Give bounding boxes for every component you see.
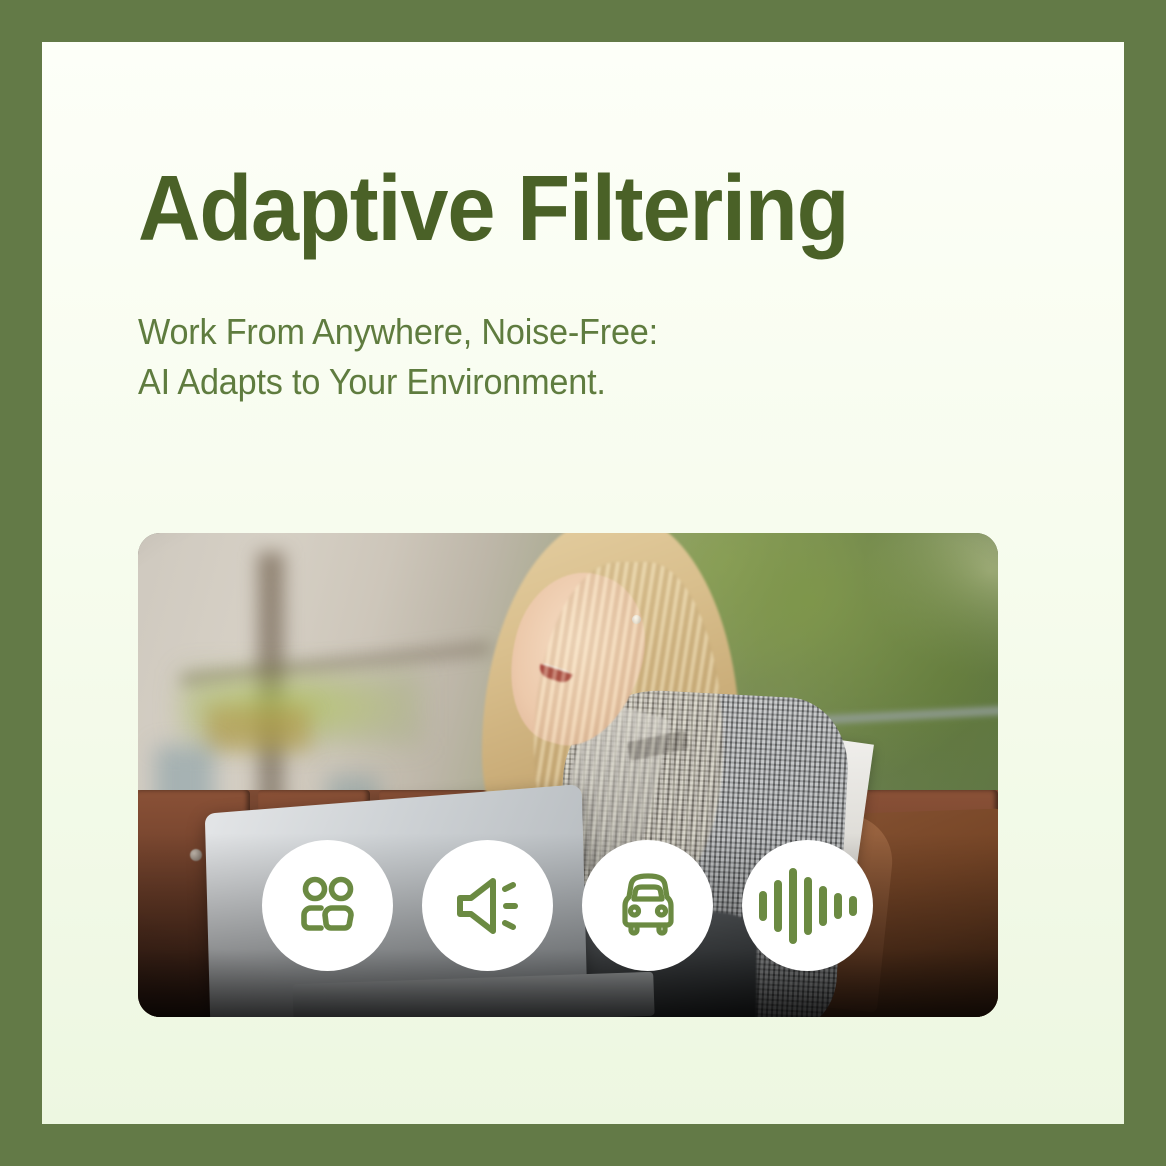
heading-block: Adaptive Filtering Work From Anywhere, N… [138, 162, 1018, 407]
page-title: Adaptive Filtering [138, 162, 956, 255]
speaker-icon-badge[interactable] [422, 840, 553, 971]
people-icon [291, 869, 365, 943]
subtitle-line-2: AI Adapts to Your Environment. [138, 357, 974, 407]
car-icon [610, 868, 686, 944]
subtitle-line-1: Work From Anywhere, Noise-Free: [138, 307, 974, 357]
content-panel: Adaptive Filtering Work From Anywhere, N… [42, 42, 1124, 1124]
audio-waveform-icon-badge[interactable] [742, 840, 873, 971]
feature-icon-row [262, 840, 873, 971]
poster-frame: Adaptive Filtering Work From Anywhere, N… [0, 0, 1166, 1166]
speaker-icon [450, 868, 526, 944]
hero-photo [138, 533, 998, 1017]
people-icon-badge[interactable] [262, 840, 393, 971]
subtitle: Work From Anywhere, Noise-Free: AI Adapt… [138, 307, 974, 407]
audio-waveform-icon [759, 868, 857, 944]
car-icon-badge[interactable] [582, 840, 713, 971]
